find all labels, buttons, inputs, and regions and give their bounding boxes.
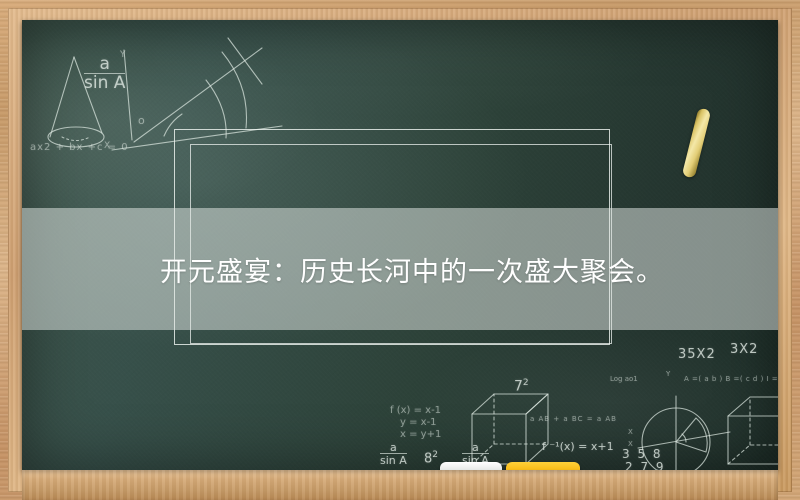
addition-x-label: X xyxy=(628,428,633,436)
angle-label-top: o xyxy=(138,114,145,127)
axis-x-label-right: X xyxy=(628,440,633,448)
vector-sum-note: a AB + a BC = a AB xyxy=(530,415,617,423)
chalk-tray xyxy=(22,470,778,500)
caption-title: 开元盛宴：历史长河中的一次盛大聚会。 xyxy=(160,250,664,289)
cube-wireframe-right xyxy=(722,392,778,470)
eight-squared: 82 xyxy=(424,450,438,466)
caption-overlay-band: 开元盛宴：历史长河中的一次盛大聚会。 xyxy=(22,208,778,330)
seven-squared: 72 xyxy=(514,378,529,395)
cube-wireframe-left xyxy=(464,388,570,470)
axis-y-label-right: Y xyxy=(666,370,670,378)
label-35x2: 35X2 xyxy=(678,347,716,362)
fraction-a-sinA-left: a sin A xyxy=(380,442,407,466)
function-x-equation: x = y+1 xyxy=(400,429,441,440)
seven-exponent: 2 xyxy=(523,378,529,388)
seven-base: 7 xyxy=(514,379,523,395)
function-fx: f (x) = x-1 xyxy=(390,405,441,416)
label-3x2: 3X2 xyxy=(730,342,758,357)
function-y-equation: y = x-1 xyxy=(400,417,437,428)
chalkboard-surface: a sin A ax2 + bx +c = 0 Y X o f (x) = x-… xyxy=(22,20,778,470)
fraction-numerator: a xyxy=(380,442,407,453)
fraction-denominator: sin A xyxy=(380,453,407,466)
axis-y-label-top: Y xyxy=(120,50,126,60)
chalkboard-scene: a sin A ax2 + bx +c = 0 Y X o f (x) = x-… xyxy=(0,0,800,500)
eight-exponent: 2 xyxy=(432,450,438,460)
axis-x-label-top: X xyxy=(104,141,110,151)
inverse-function: f ⁻¹(x) = x+1 xyxy=(542,440,614,453)
